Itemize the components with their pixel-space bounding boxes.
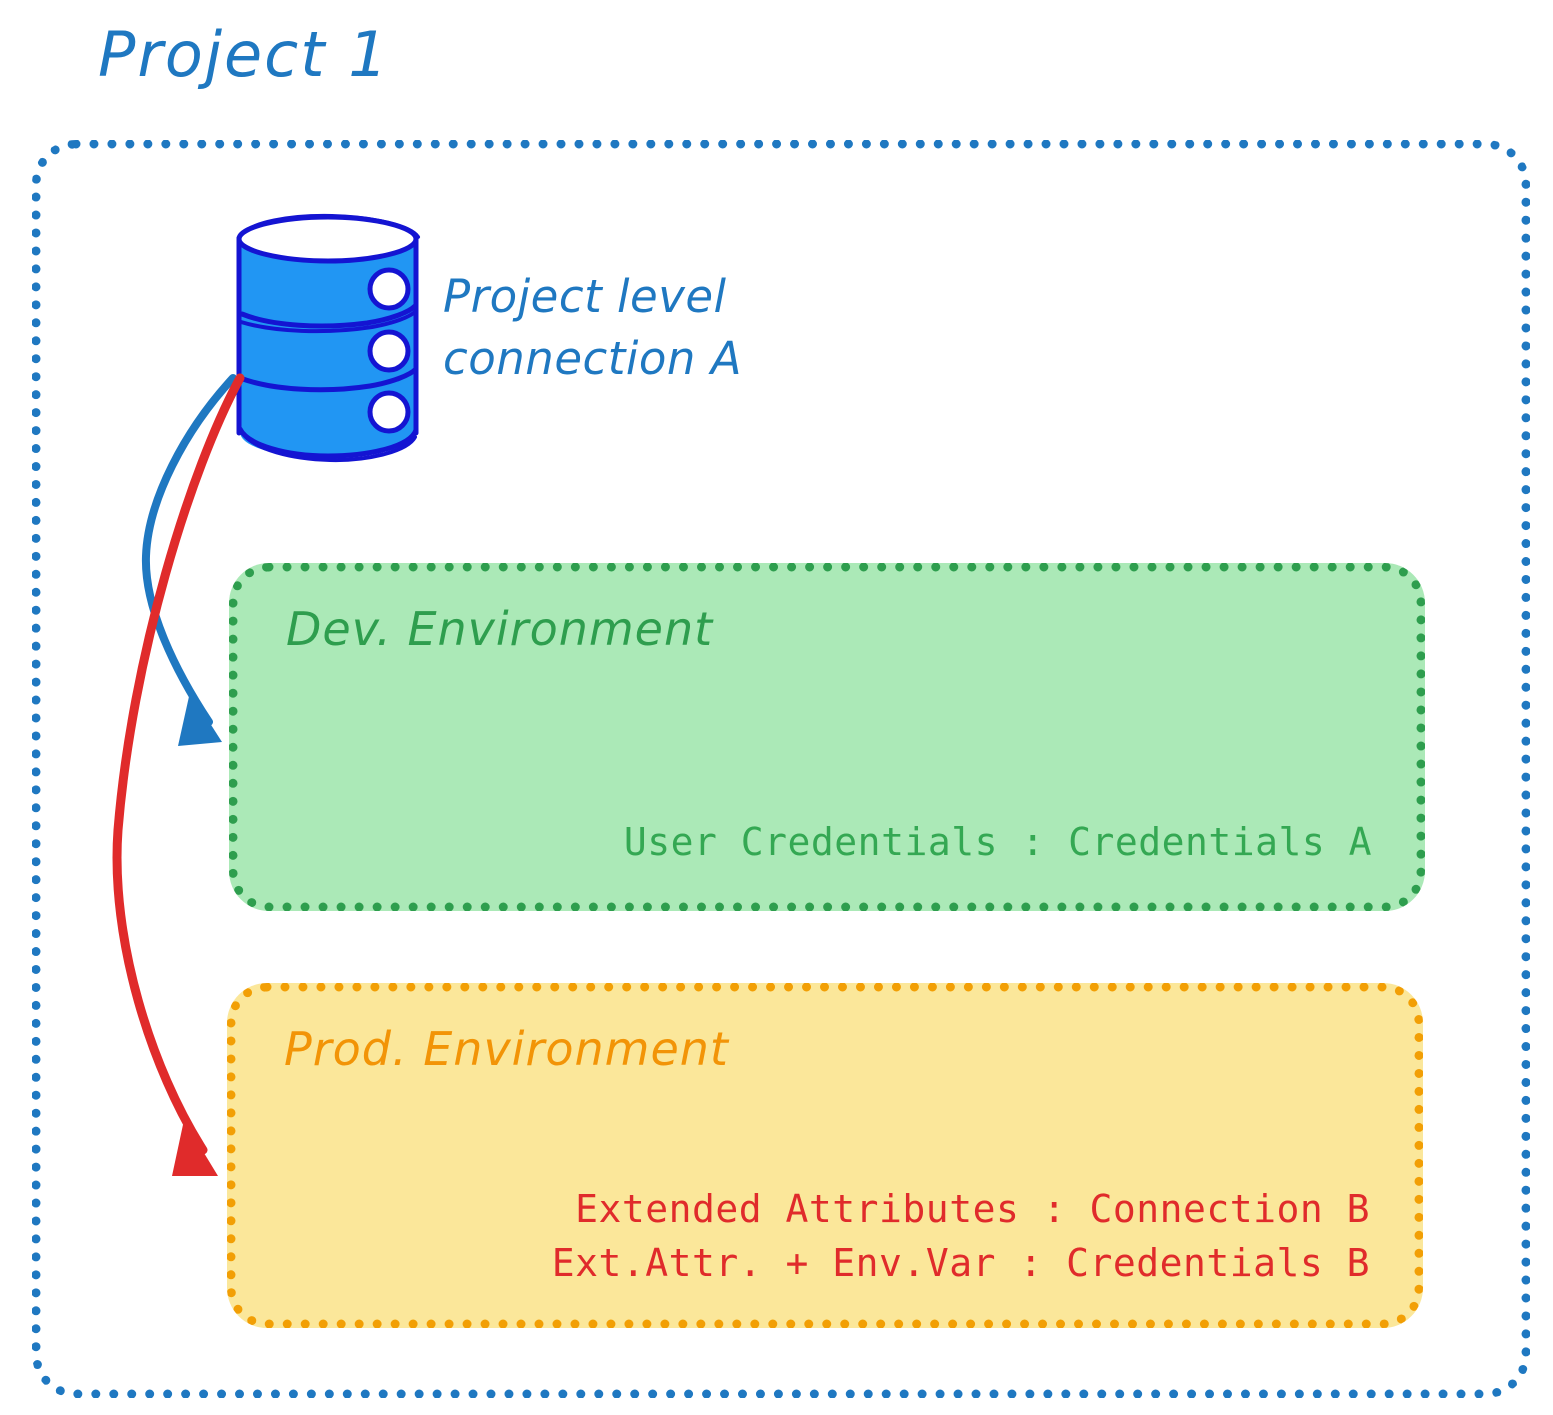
project-title: Project 1 [98,18,390,91]
database-label-line-1: Project level [443,266,863,328]
dev-environment-box: Dev. Environment User Credentials : Cred… [229,563,1425,911]
prod-credentials-line: Ext.Attr. + Env.Var : Credentials B [552,1237,1370,1291]
prod-extended-attributes-line: Extended Attributes : Connection B [552,1183,1370,1237]
dev-credentials-line: User Credentials : Credentials A [624,816,1372,870]
dev-environment-title: Dev. Environment [286,602,713,656]
diagram-canvas: Project 1 Project level connecti [0,0,1553,1415]
prod-environment-box: Prod. Environment Extended Attributes : … [227,983,1423,1328]
database-cylinder-icon [222,210,437,465]
dev-environment-details: User Credentials : Credentials A [624,816,1372,870]
prod-environment-title: Prod. Environment [284,1022,729,1076]
database-label: Project level connection A [443,266,863,390]
prod-environment-details: Extended Attributes : Connection B Ext.A… [552,1183,1370,1291]
database-label-line-2: connection A [443,328,863,390]
